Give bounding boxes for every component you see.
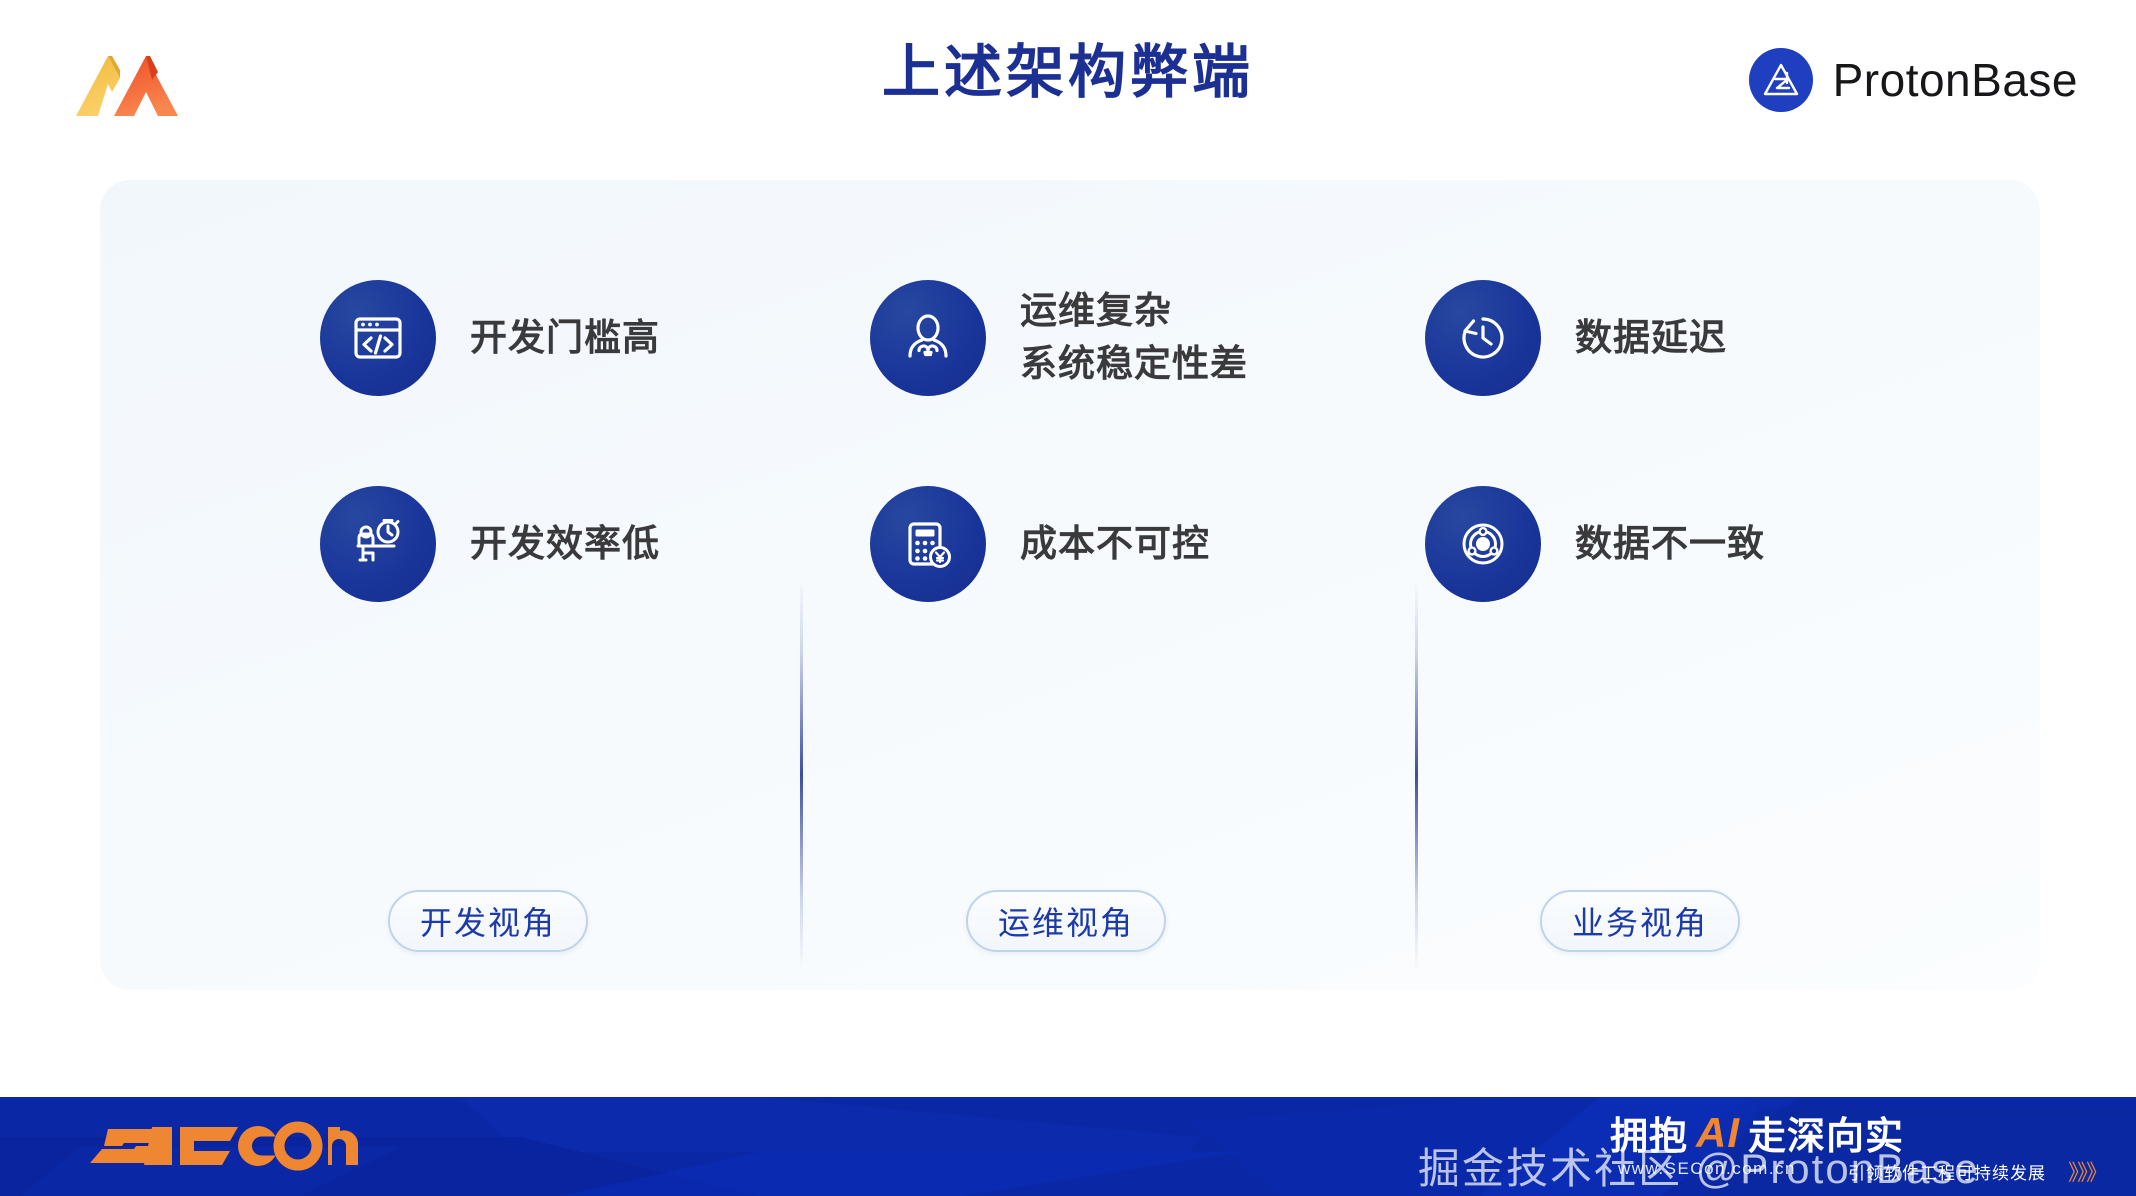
feature-item: 开发效率低 xyxy=(320,486,660,602)
feature-item: 开发门槛高 xyxy=(320,280,660,396)
slide-header: 上述架构弊端 ProtonBase xyxy=(0,0,2136,148)
feature-item: 数据延迟 xyxy=(1425,280,1727,396)
feature-label-line: 系统稳定性差 xyxy=(1020,338,1248,391)
footer-arrows-icon: 》》》 xyxy=(2068,1155,2106,1187)
calculator-yuan-icon xyxy=(870,486,986,602)
perspective-pills: 开发视角 运维视角 业务视角 xyxy=(100,890,2040,952)
feature-column-business: 数据延迟 数据不一致 xyxy=(1425,280,2025,840)
feature-label: 成本不可控 xyxy=(1020,518,1210,571)
feature-label: 运维复杂 系统稳定性差 xyxy=(1020,285,1248,390)
footer-tagline-ai: AI xyxy=(1696,1109,1740,1157)
protonbase-logo-lockup: ProtonBase xyxy=(1749,48,2078,112)
sync-nodes-icon xyxy=(1425,486,1541,602)
feature-item: 成本不可控 xyxy=(870,486,1210,602)
footer-sub-tagline: 引领软件工程可持续发展 xyxy=(1848,1159,2046,1184)
feature-item: 运维复杂 系统稳定性差 xyxy=(870,280,1248,396)
feature-label-line: 运维复杂 xyxy=(1020,290,1172,331)
feature-label: 数据延迟 xyxy=(1575,312,1727,365)
protonbase-wordmark: ProtonBase xyxy=(1833,53,2078,107)
feature-column-development: 开发门槛高 xyxy=(320,280,920,840)
footer-tagline-after: 走深向实 xyxy=(1748,1105,1904,1160)
slide-root: 上述架构弊端 ProtonBase xyxy=(0,0,2136,1196)
protonbase-triangle-icon xyxy=(1749,48,1813,112)
feature-label-line: 成本不可控 xyxy=(1020,523,1210,564)
feature-label: 开发门槛高 xyxy=(470,312,660,365)
feature-column-operations: 运维复杂 系统稳定性差 xyxy=(870,280,1470,840)
footer-tagline-before: 拥抱 xyxy=(1610,1105,1688,1160)
feature-label-line: 开发门槛高 xyxy=(470,317,660,358)
perspective-pill-business[interactable]: 业务视角 xyxy=(1540,890,1740,952)
secon-logo xyxy=(88,1113,358,1179)
feature-label-line: 数据不一致 xyxy=(1575,523,1765,564)
feature-label-line: 开发效率低 xyxy=(470,523,660,564)
perspective-pill-development[interactable]: 开发视角 xyxy=(388,890,588,952)
feature-label: 数据不一致 xyxy=(1575,518,1765,571)
footer-tagline: 拥抱 AI 走深向实 xyxy=(1610,1105,1904,1160)
person-desk-stopwatch-icon xyxy=(320,486,436,602)
feature-item: 数据不一致 xyxy=(1425,486,1765,602)
feature-columns: 开发门槛高 xyxy=(100,280,2040,840)
feature-label-line: 数据延迟 xyxy=(1575,317,1727,358)
code-window-icon xyxy=(320,280,436,396)
perspective-pill-operations[interactable]: 运维视角 xyxy=(966,890,1166,952)
footer-tagline-block: 拥抱 AI 走深向实 www.SECon.com.cn 引领软件工程可持续发展 … xyxy=(1576,1097,2136,1196)
footer-url: www.SECon.com.cn xyxy=(1618,1159,1796,1179)
slide-footer: 拥抱 AI 走深向实 www.SECon.com.cn 引领软件工程可持续发展 … xyxy=(0,1097,2136,1196)
person-wrench-icon xyxy=(870,280,986,396)
clock-history-icon xyxy=(1425,280,1541,396)
feature-label: 开发效率低 xyxy=(470,518,660,571)
